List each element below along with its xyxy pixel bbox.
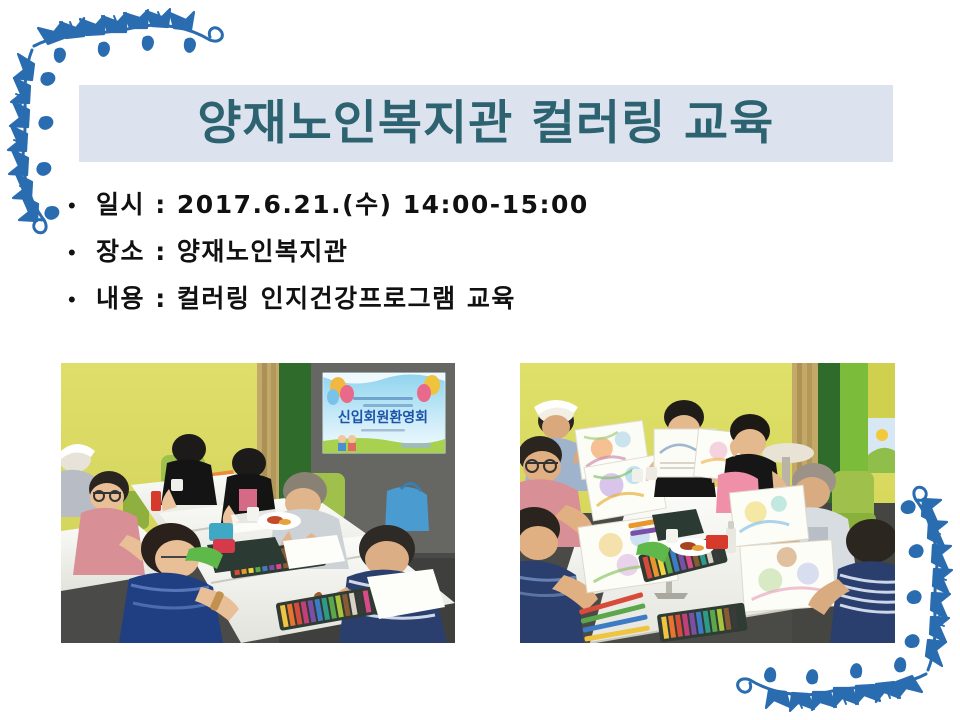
- bullet-item-schedule: • 일시 : 2017.6.21.(수) 14:00-15:00: [62, 192, 882, 239]
- photo-seniors-showing-finished-artwork: [520, 363, 895, 643]
- title-band: 양재노인복지관 컬러링 교육: [79, 85, 893, 162]
- bullet-item-location: • 장소 : 양재노인복지관: [62, 239, 882, 286]
- bullet-item-content: • 내용 : 컬러링 인지건강프로그램 교육: [62, 286, 882, 333]
- bullet-text-schedule: 일시 : 2017.6.21.(수) 14:00-15:00: [96, 192, 589, 217]
- bullet-dot-icon: •: [62, 195, 96, 217]
- photo-seniors-coloring-at-tables: 신입회원환영회: [61, 363, 455, 643]
- svg-text:신입회원환영회: 신입회원환영회: [338, 409, 428, 426]
- bullet-list: • 일시 : 2017.6.21.(수) 14:00-15:00 • 장소 : …: [62, 192, 882, 333]
- bullet-dot-icon: •: [62, 289, 96, 311]
- bullet-dot-icon: •: [62, 242, 96, 264]
- bullet-text-location: 장소 : 양재노인복지관: [96, 239, 348, 264]
- bullet-text-content: 내용 : 컬러링 인지건강프로그램 교육: [96, 286, 516, 311]
- page-title: 양재노인복지관 컬러링 교육: [198, 100, 775, 147]
- slide-canvas: 양재노인복지관 컬러링 교육 • 일시 : 2017.6.21.(수) 14:0…: [0, 0, 960, 720]
